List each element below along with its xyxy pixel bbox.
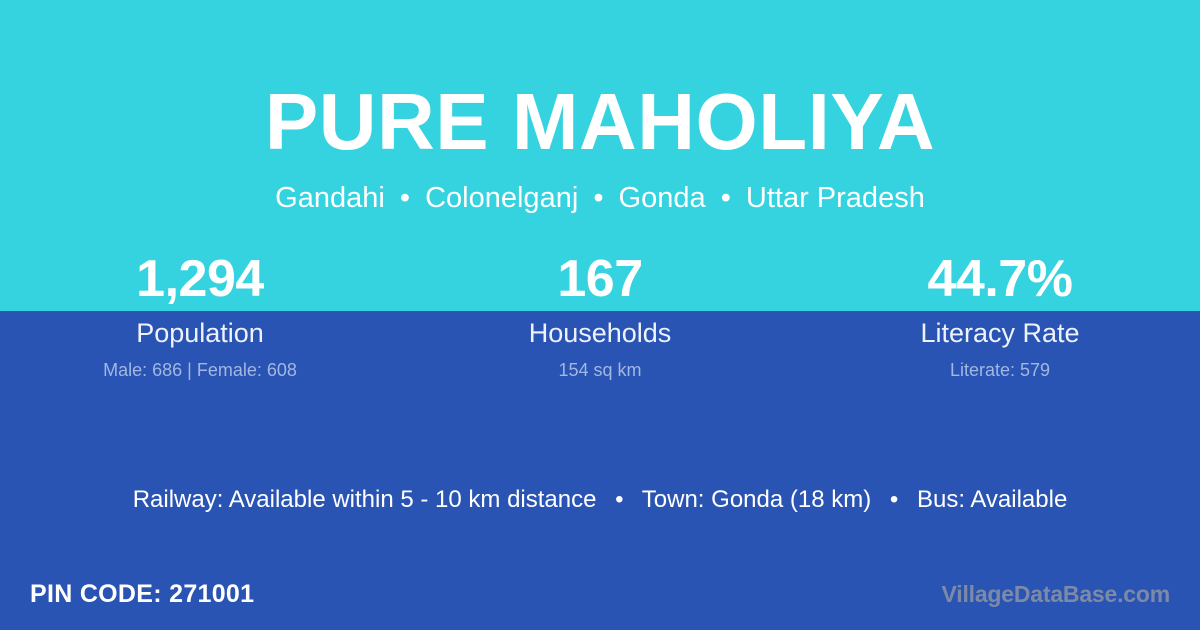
stat-label: Literacy Rate — [800, 311, 1200, 349]
stat-label: Population — [0, 311, 400, 349]
breadcrumb-item-block: Colonelganj — [425, 182, 578, 214]
transport-info: Railway: Available within 5 - 10 km dist… — [0, 484, 1200, 516]
breadcrumb-item-district: Gonda — [619, 182, 706, 214]
stat-sub: 154 sq km — [400, 349, 800, 381]
breadcrumb-separator: • — [714, 182, 738, 214]
breadcrumb-item-state: Uttar Pradesh — [746, 182, 925, 214]
stat-sub: Literate: 579 — [800, 349, 1200, 381]
pin-code: PIN CODE: 271001 — [30, 579, 254, 609]
transport-item-railway: Railway: Available within 5 - 10 km dist… — [133, 486, 597, 513]
card-footer: PIN CODE: 271001 VillageDataBase.com — [0, 570, 1200, 630]
village-info-card: PURE MAHOLIYA Gandahi • Colonelganj • Go… — [0, 0, 1200, 630]
transport-separator: • — [603, 486, 635, 513]
breadcrumb-item-village: Gandahi — [275, 182, 385, 214]
transport-item-bus: Bus: Available — [917, 486, 1067, 513]
site-watermark: VillageDataBase.com — [942, 579, 1170, 609]
card-header: PURE MAHOLIYA Gandahi • Colonelganj • Go… — [0, 0, 1200, 213]
stat-value: 167 — [400, 248, 800, 311]
stat-households: 167 Households 154 sq km — [400, 248, 800, 381]
transport-item-town: Town: Gonda (18 km) — [642, 486, 871, 513]
stat-value: 44.7% — [800, 248, 1200, 311]
stat-value: 1,294 — [0, 248, 400, 311]
breadcrumb-separator: • — [393, 182, 417, 214]
breadcrumb: Gandahi • Colonelganj • Gonda • Uttar Pr… — [0, 162, 1200, 213]
transport-separator: • — [878, 486, 910, 513]
page-title: PURE MAHOLIYA — [0, 0, 1200, 162]
stat-population: 1,294 Population Male: 686 | Female: 608 — [0, 248, 400, 381]
breadcrumb-separator: • — [586, 182, 610, 214]
stat-literacy-rate: 44.7% Literacy Rate Literate: 579 — [800, 248, 1200, 381]
stats-row: 1,294 Population Male: 686 | Female: 608… — [0, 248, 1200, 381]
stat-label: Households — [400, 311, 800, 349]
stat-sub: Male: 686 | Female: 608 — [0, 349, 400, 381]
